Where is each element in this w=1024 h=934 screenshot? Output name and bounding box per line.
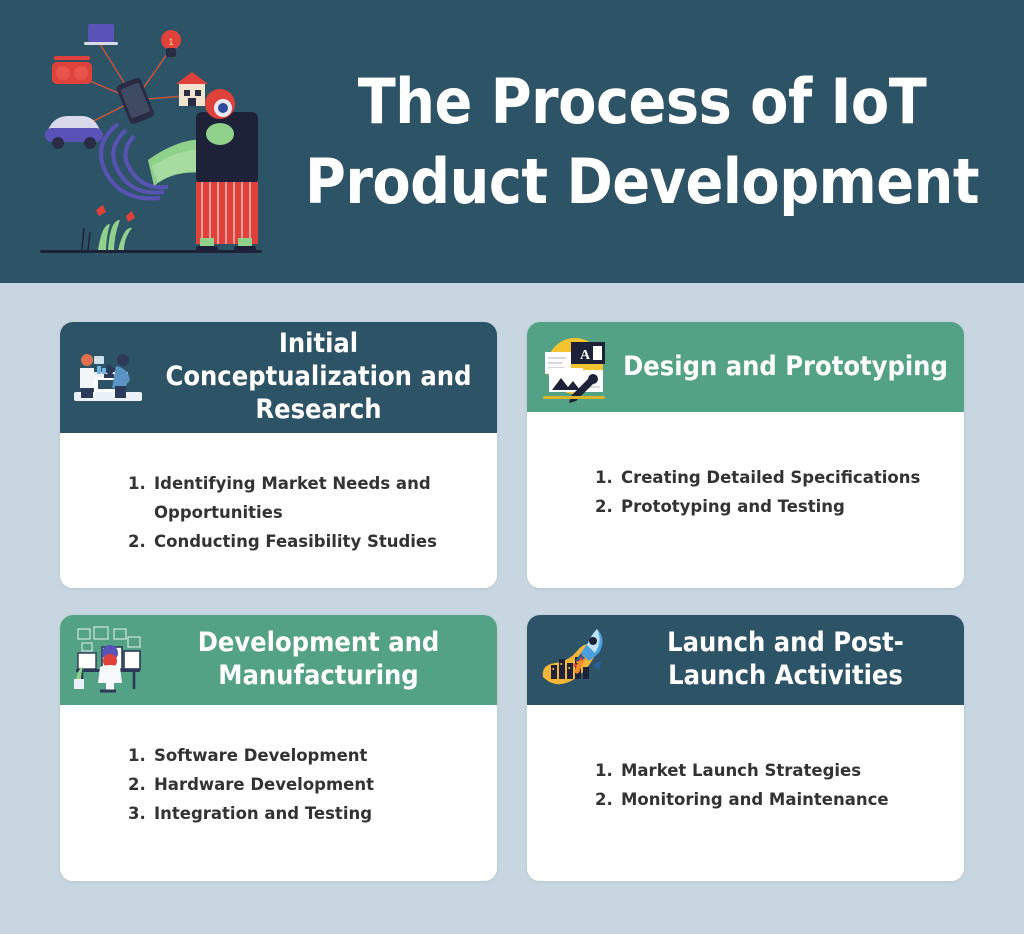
hero-banner: 1 bbox=[0, 0, 1024, 283]
smart-home-node-icon bbox=[176, 72, 208, 106]
laptop-node-icon bbox=[84, 24, 118, 45]
graphic-design-icon: A bbox=[535, 330, 615, 404]
card-body: Market Launch Strategies Monitoring and … bbox=[527, 705, 964, 881]
rocket-launch-city-icon bbox=[535, 623, 615, 697]
svg-text:A: A bbox=[580, 348, 591, 363]
page-title-line-1: The Process of IoT bbox=[358, 65, 927, 138]
list-item: Identifying Market Needs and Opportuniti… bbox=[128, 469, 471, 527]
developer-desk-icon bbox=[68, 623, 148, 697]
page-title-line-2: Product Development bbox=[300, 142, 984, 221]
card-step-list: Market Launch Strategies Monitoring and … bbox=[553, 756, 938, 814]
list-item: Market Launch Strategies bbox=[595, 756, 938, 785]
card-body: Software Development Hardware Developmen… bbox=[60, 705, 497, 881]
process-card-design-prototyping[interactable]: A Design and Prototyping bbox=[527, 322, 964, 588]
list-item: Hardware Development bbox=[128, 770, 471, 799]
list-item: Conducting Feasibility Studies bbox=[128, 527, 471, 556]
lightbulb-node-icon: 1 bbox=[161, 30, 181, 57]
lab-research-icon bbox=[68, 340, 148, 414]
vr-goggles-node-icon bbox=[52, 56, 92, 84]
list-item: Integration and Testing bbox=[128, 799, 471, 828]
page-title: The Process of IoT Product Development bbox=[300, 62, 1024, 221]
smartphone-icon bbox=[115, 77, 155, 126]
card-title: Initial Conceptualization and Research bbox=[154, 328, 483, 427]
card-body: Creating Detailed Specifications Prototy… bbox=[527, 412, 964, 588]
card-header: Initial Conceptualization and Research bbox=[60, 322, 497, 433]
card-body: Identifying Market Needs and Opportuniti… bbox=[60, 433, 497, 588]
list-item: Creating Detailed Specifications bbox=[595, 463, 938, 492]
iot-network-person-illustration: 1 bbox=[40, 12, 270, 262]
card-step-list: Creating Detailed Specifications Prototy… bbox=[553, 463, 938, 521]
grass-decoration bbox=[82, 205, 135, 250]
process-card-grid: Initial Conceptualization and Research I… bbox=[0, 283, 1024, 881]
list-item: Prototyping and Testing bbox=[595, 492, 938, 521]
svg-text:1: 1 bbox=[168, 37, 173, 47]
card-title: Design and Prototyping bbox=[621, 351, 950, 384]
hero-illustration-container: 1 bbox=[0, 0, 300, 283]
list-item: Software Development bbox=[128, 741, 471, 770]
process-card-development-manufacturing[interactable]: Development and Manufacturing Software D… bbox=[60, 615, 497, 881]
process-card-launch-activities[interactable]: Launch and Post-Launch Activities Market… bbox=[527, 615, 964, 881]
list-item: Monitoring and Maintenance bbox=[595, 785, 938, 814]
card-header: Development and Manufacturing bbox=[60, 615, 497, 705]
process-card-initial-conceptualization[interactable]: Initial Conceptualization and Research I… bbox=[60, 322, 497, 588]
card-title: Development and Manufacturing bbox=[154, 627, 483, 693]
card-step-list: Software Development Hardware Developmen… bbox=[86, 741, 471, 828]
person-figure bbox=[148, 89, 258, 251]
card-title: Launch and Post-Launch Activities bbox=[621, 627, 950, 693]
card-step-list: Identifying Market Needs and Opportuniti… bbox=[86, 469, 471, 556]
card-header: Launch and Post-Launch Activities bbox=[527, 615, 964, 705]
card-header: A Design and Prototyping bbox=[527, 322, 964, 412]
